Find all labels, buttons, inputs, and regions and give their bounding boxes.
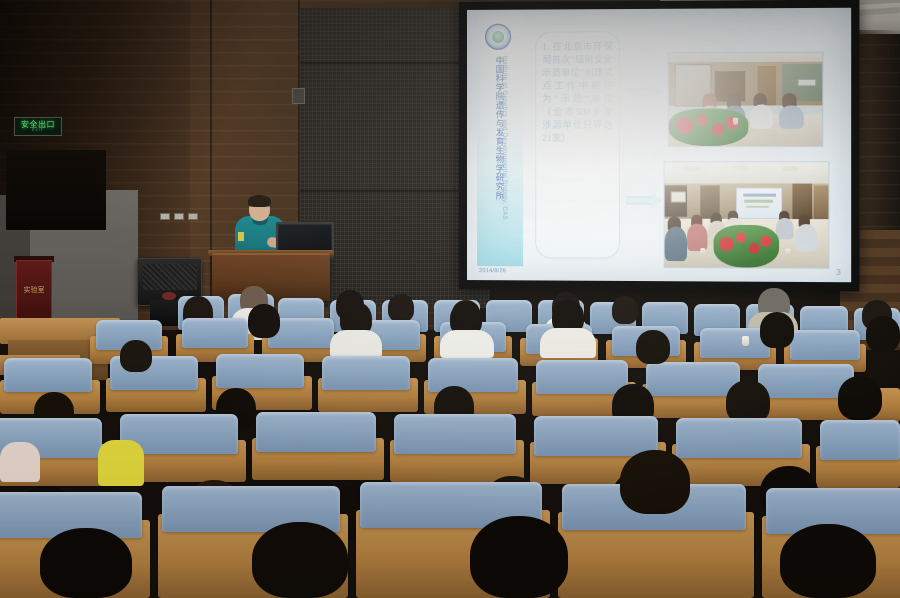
speaker-grill — [143, 264, 197, 290]
wall-banner: 实验室 — [16, 260, 52, 322]
projection-screen-frame: 中国科学院遗传与发育生物学研究所 Institute of Genetics a… — [459, 0, 859, 291]
slide-textbox: 1. 在北京市环保局首次“辐射安全示范单位”创建试点工作中被评为“示范”单位（全… — [535, 31, 620, 259]
speaker-driver — [162, 292, 176, 300]
presentation-slide: 中国科学院遗传与发育生物学研究所 Institute of Genetics a… — [467, 8, 851, 283]
slide-photo-bottom — [665, 162, 829, 268]
cas-institute-logo-icon — [485, 24, 511, 50]
lecture-hall-photo: 安全出口 EXIT 实验室 中国科学院遗传与发育生物学研究所 Institute… — [0, 0, 900, 598]
monitor-screen — [279, 225, 331, 251]
wall-outlet-plate[interactable] — [188, 213, 198, 220]
wall-outlet-plate[interactable] — [160, 213, 170, 220]
arrow-right-icon — [626, 192, 667, 208]
arrow-right-icon — [626, 83, 667, 99]
slide-body-text: 1. 在北京市环保局首次“辐射安全示范单位”创建试点工作中被评为“示范”单位（全… — [542, 40, 613, 145]
projection-screen: 中国科学院遗传与发育生物学研究所 Institute of Genetics a… — [467, 8, 851, 283]
slide-date-stamp: 2014/8/26 — [479, 268, 506, 274]
presenter-hair — [248, 195, 271, 207]
slide-page-number: 3 — [836, 268, 841, 277]
wooden-podium — [212, 253, 330, 301]
wall-control-panel[interactable] — [292, 88, 305, 104]
presenter-badge — [238, 232, 244, 241]
wall-outlet-plate[interactable] — [174, 213, 184, 220]
exit-sign-label-en: EXIT — [32, 129, 44, 133]
door-opening[interactable] — [6, 150, 106, 230]
slide-organization-en: Institute of Genetics and Developmental … — [501, 56, 507, 220]
slide-photo-top — [669, 53, 823, 146]
exit-sign: 安全出口 EXIT — [14, 117, 62, 136]
